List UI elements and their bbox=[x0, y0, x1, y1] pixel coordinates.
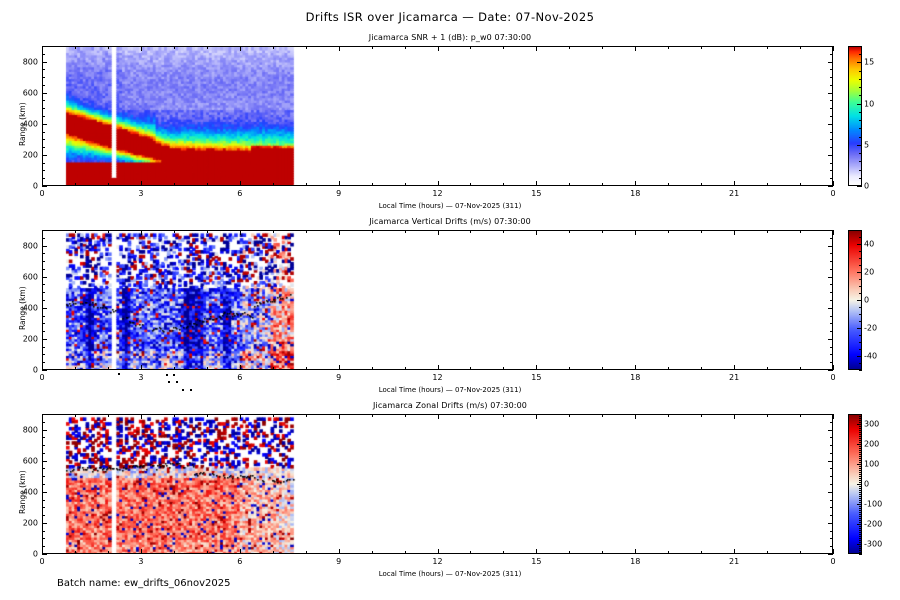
x-minor-tick bbox=[800, 551, 801, 554]
y-minor-tick bbox=[830, 546, 833, 547]
colorbar-tick-label: 200 bbox=[864, 440, 879, 449]
colorbar-minor-tick bbox=[859, 514, 862, 515]
y-minor-tick bbox=[42, 507, 45, 508]
colorbar-minor-tick bbox=[859, 552, 862, 553]
x-minor-tick bbox=[339, 549, 340, 554]
x-minor-tick bbox=[108, 551, 109, 554]
x-minor-tick bbox=[372, 414, 373, 417]
colorbar-minor-tick bbox=[859, 530, 862, 531]
xtick-label: 3 bbox=[138, 557, 143, 566]
x-minor-tick bbox=[470, 414, 471, 417]
colorbar-minor-tick bbox=[859, 508, 862, 509]
x-minor-tick bbox=[833, 414, 834, 419]
colorbar-minor-tick bbox=[859, 460, 862, 461]
y-minor-tick bbox=[830, 414, 833, 415]
colorbar-minor-tick bbox=[859, 438, 862, 439]
colorbar-minor-tick bbox=[859, 510, 862, 511]
xtick-label: 15 bbox=[531, 557, 541, 566]
x-minor-tick bbox=[339, 414, 340, 419]
xtick-label: 21 bbox=[729, 557, 739, 566]
y-minor-tick bbox=[830, 445, 833, 446]
colorbar-major-tick bbox=[857, 484, 862, 485]
xtick-label: 0 bbox=[830, 557, 835, 566]
batch-name-label: Batch name: bbox=[57, 578, 121, 589]
stray-marker bbox=[176, 381, 178, 383]
colorbar-minor-tick bbox=[859, 448, 862, 449]
y-minor-tick bbox=[42, 445, 45, 446]
y-minor-tick bbox=[42, 437, 45, 438]
colorbar-minor-tick bbox=[859, 468, 862, 469]
xtick-label: 12 bbox=[432, 557, 442, 566]
colorbar-minor-tick bbox=[859, 486, 862, 487]
colorbar-minor-tick bbox=[859, 430, 862, 431]
colorbar-minor-tick bbox=[859, 414, 862, 415]
colorbar-tick-label: 300 bbox=[864, 420, 879, 429]
y-minor-tick bbox=[42, 422, 45, 423]
x-minor-tick bbox=[207, 414, 208, 417]
y-minor-tick bbox=[830, 484, 833, 485]
xtick-label: 9 bbox=[336, 557, 341, 566]
stray-marker bbox=[182, 389, 184, 391]
x-minor-tick bbox=[536, 414, 537, 419]
ytick-label: 200 bbox=[12, 518, 38, 527]
stray-marker bbox=[118, 373, 120, 375]
colorbar-minor-tick bbox=[859, 452, 862, 453]
x-minor-tick bbox=[75, 551, 76, 554]
colorbar-minor-tick bbox=[859, 446, 862, 447]
colorbar-minor-tick bbox=[859, 550, 862, 551]
colorbar-major-tick bbox=[857, 444, 862, 445]
x-minor-tick bbox=[141, 414, 142, 419]
y-minor-tick bbox=[42, 500, 45, 501]
x-minor-tick bbox=[734, 414, 735, 419]
colorbar-major-tick bbox=[857, 504, 862, 505]
colorbar-minor-tick bbox=[859, 506, 862, 507]
x-minor-tick bbox=[569, 414, 570, 417]
x-minor-tick bbox=[701, 414, 702, 417]
y-minor-tick bbox=[830, 468, 833, 469]
colorbar-minor-tick bbox=[859, 546, 862, 547]
stray-marker bbox=[168, 381, 170, 383]
x-minor-tick bbox=[273, 551, 274, 554]
y-minor-tick bbox=[42, 523, 47, 524]
x-minor-tick bbox=[569, 551, 570, 554]
panel-title-zonal-drifts: Jicamarca Zonal Drifts (m/s) 07:30:00 bbox=[0, 401, 900, 410]
colorbar-minor-tick bbox=[859, 512, 862, 513]
x-minor-tick bbox=[273, 414, 274, 417]
colorbar-tick-label: -300 bbox=[864, 540, 882, 549]
colorbar-tick-label: -100 bbox=[864, 500, 882, 509]
colorbar-minor-tick bbox=[859, 526, 862, 527]
x-minor-tick bbox=[767, 551, 768, 554]
ytick-label: 0 bbox=[12, 550, 38, 559]
colorbar-minor-tick bbox=[859, 496, 862, 497]
y-minor-tick bbox=[830, 531, 833, 532]
colorbar-minor-tick bbox=[859, 482, 862, 483]
colorbar-major-tick bbox=[857, 464, 862, 465]
y-minor-tick bbox=[42, 546, 45, 547]
y-minor-tick bbox=[42, 468, 45, 469]
x-minor-tick bbox=[108, 414, 109, 417]
colorbar-minor-tick bbox=[859, 416, 862, 417]
y-minor-tick bbox=[828, 554, 833, 555]
x-minor-tick bbox=[141, 549, 142, 554]
ytick-label: 600 bbox=[12, 456, 38, 465]
x-minor-tick bbox=[536, 549, 537, 554]
colorbar-minor-tick bbox=[859, 436, 862, 437]
xtick-label: 6 bbox=[237, 557, 242, 566]
y-minor-tick bbox=[830, 422, 833, 423]
y-minor-tick bbox=[830, 538, 833, 539]
x-minor-tick bbox=[635, 414, 636, 419]
x-minor-tick bbox=[701, 551, 702, 554]
y-minor-tick bbox=[42, 414, 45, 415]
colorbar-minor-tick bbox=[859, 432, 862, 433]
y-minor-tick bbox=[42, 531, 45, 532]
colorbar-minor-tick bbox=[859, 450, 862, 451]
batch-name-value: ew_drifts_06nov2025 bbox=[124, 578, 231, 589]
x-minor-tick bbox=[767, 414, 768, 417]
colorbar-minor-tick bbox=[859, 442, 862, 443]
colorbar-minor-tick bbox=[859, 428, 862, 429]
x-minor-tick bbox=[602, 551, 603, 554]
colorbar-minor-tick bbox=[859, 456, 862, 457]
xtick-label: 18 bbox=[630, 557, 640, 566]
x-minor-tick bbox=[174, 414, 175, 417]
x-minor-tick bbox=[503, 551, 504, 554]
colorbar-minor-tick bbox=[859, 488, 862, 489]
y-minor-tick bbox=[42, 492, 47, 493]
y-minor-tick bbox=[42, 538, 45, 539]
colorbar-minor-tick bbox=[859, 472, 862, 473]
colorbar-minor-tick bbox=[859, 534, 862, 535]
x-minor-tick bbox=[503, 414, 504, 417]
x-minor-tick bbox=[75, 414, 76, 417]
x-minor-tick bbox=[306, 414, 307, 417]
y-minor-tick bbox=[42, 515, 45, 516]
colorbar-minor-tick bbox=[859, 426, 862, 427]
y-minor-tick bbox=[830, 437, 833, 438]
y-axis-label-zonal-drifts: Range (km) bbox=[18, 470, 27, 514]
colorbar-minor-tick bbox=[859, 434, 862, 435]
colorbar-major-tick bbox=[857, 524, 862, 525]
colorbar-minor-tick bbox=[859, 490, 862, 491]
colorbar-minor-tick bbox=[859, 454, 862, 455]
colorbar-minor-tick bbox=[859, 418, 862, 419]
colorbar-minor-tick bbox=[859, 474, 862, 475]
colorbar-minor-tick bbox=[859, 528, 862, 529]
colorbar-minor-tick bbox=[859, 422, 862, 423]
colorbar-major-tick bbox=[857, 544, 862, 545]
colorbar-minor-tick bbox=[859, 494, 862, 495]
xtick-label: 0 bbox=[39, 557, 44, 566]
y-minor-tick bbox=[42, 461, 47, 462]
x-minor-tick bbox=[470, 551, 471, 554]
colorbar-minor-tick bbox=[859, 492, 862, 493]
y-minor-tick bbox=[830, 500, 833, 501]
x-minor-tick bbox=[438, 414, 439, 419]
colorbar-minor-tick bbox=[859, 536, 862, 537]
stray-marker bbox=[190, 389, 192, 391]
y-minor-tick bbox=[830, 507, 833, 508]
y-minor-tick bbox=[42, 430, 47, 431]
colorbar-tick-label: 0 bbox=[864, 480, 869, 489]
y-minor-tick bbox=[42, 476, 45, 477]
ytick-label: 800 bbox=[12, 425, 38, 434]
y-minor-tick bbox=[828, 430, 833, 431]
x-minor-tick bbox=[174, 551, 175, 554]
colorbar-minor-tick bbox=[859, 440, 862, 441]
y-minor-tick bbox=[42, 484, 45, 485]
colorbar-minor-tick bbox=[859, 542, 862, 543]
x-minor-tick bbox=[668, 551, 669, 554]
colorbar-minor-tick bbox=[859, 476, 862, 477]
y-minor-tick bbox=[828, 492, 833, 493]
colorbar-tick-label: 100 bbox=[864, 460, 879, 469]
colorbar-minor-tick bbox=[859, 470, 862, 471]
colorbar-minor-tick bbox=[859, 554, 862, 555]
colorbar-minor-tick bbox=[859, 538, 862, 539]
colorbar-minor-tick bbox=[859, 518, 862, 519]
stray-marker bbox=[173, 374, 175, 376]
y-minor-tick bbox=[42, 554, 47, 555]
colorbar-minor-tick bbox=[859, 532, 862, 533]
colorbar-minor-tick bbox=[859, 478, 862, 479]
x-minor-tick bbox=[240, 414, 241, 419]
x-minor-tick bbox=[240, 549, 241, 554]
y-minor-tick bbox=[830, 515, 833, 516]
x-minor-tick bbox=[800, 414, 801, 417]
y-minor-tick bbox=[828, 523, 833, 524]
x-axis-label-zonal-drifts: Local Time (hours) — 07-Nov-2025 (311) bbox=[0, 570, 900, 578]
colorbar-minor-tick bbox=[859, 516, 862, 517]
colorbar-major-tick bbox=[857, 424, 862, 425]
x-minor-tick bbox=[207, 551, 208, 554]
colorbar-minor-tick bbox=[859, 522, 862, 523]
y-minor-tick bbox=[830, 476, 833, 477]
y-minor-tick bbox=[830, 453, 833, 454]
colorbar-minor-tick bbox=[859, 466, 862, 467]
x-minor-tick bbox=[372, 551, 373, 554]
colorbar-minor-tick bbox=[859, 520, 862, 521]
x-minor-tick bbox=[602, 414, 603, 417]
x-minor-tick bbox=[405, 551, 406, 554]
y-minor-tick bbox=[828, 461, 833, 462]
colorbar-tick-label: -200 bbox=[864, 520, 882, 529]
colorbar-minor-tick bbox=[859, 498, 862, 499]
x-minor-tick bbox=[833, 549, 834, 554]
colorbar-minor-tick bbox=[859, 548, 862, 549]
colorbar-minor-tick bbox=[859, 420, 862, 421]
y-minor-tick bbox=[42, 453, 45, 454]
colorbar-minor-tick bbox=[859, 500, 862, 501]
x-minor-tick bbox=[306, 551, 307, 554]
panel-zonal-drifts: Jicamarca Zonal Drifts (m/s) 07:30:00036… bbox=[0, 0, 900, 600]
colorbar-minor-tick bbox=[859, 480, 862, 481]
heatmap-zonal-drifts bbox=[43, 415, 832, 553]
batch-name: Batch name: ew_drifts_06nov2025 bbox=[57, 578, 230, 589]
colorbar-minor-tick bbox=[859, 458, 862, 459]
colorbar-minor-tick bbox=[859, 462, 862, 463]
x-minor-tick bbox=[668, 414, 669, 417]
stray-marker bbox=[166, 374, 168, 376]
x-minor-tick bbox=[438, 549, 439, 554]
plot-area-zonal-drifts[interactable] bbox=[42, 414, 833, 554]
x-minor-tick bbox=[405, 414, 406, 417]
colorbar-minor-tick bbox=[859, 540, 862, 541]
x-minor-tick bbox=[635, 549, 636, 554]
colorbar-minor-tick bbox=[859, 502, 862, 503]
x-minor-tick bbox=[734, 549, 735, 554]
